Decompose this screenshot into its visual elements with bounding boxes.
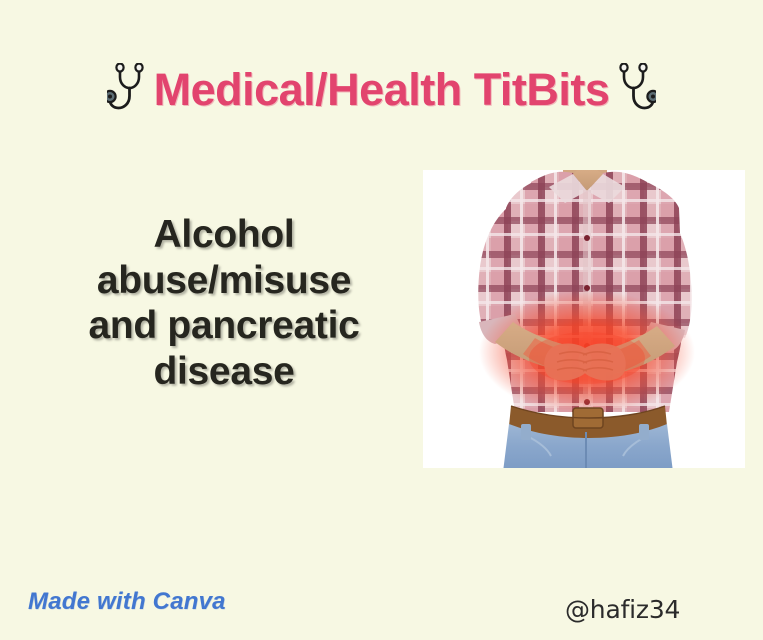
headline-line: abuse/misuse — [38, 258, 410, 304]
poster-title-row: Medical/Health TitBits — [0, 58, 763, 120]
headline-line: and pancreatic — [38, 303, 410, 349]
author-handle: @hafiz34 — [565, 595, 680, 624]
stethoscope-icon — [107, 63, 153, 115]
stethoscope-icon — [610, 63, 656, 115]
canva-credit: Made with Canva — [28, 588, 226, 616]
headline-line: Alcohol — [38, 212, 410, 258]
page-title: Medical/Health TitBits — [153, 67, 611, 112]
abdominal-pain-photo — [423, 170, 745, 468]
poster-canvas: Medical/Health TitBits Alcohol abuse/mis… — [0, 0, 763, 640]
headline: Alcohol abuse/misuse and pancreatic dise… — [38, 212, 410, 395]
headline-line: disease — [38, 349, 410, 395]
